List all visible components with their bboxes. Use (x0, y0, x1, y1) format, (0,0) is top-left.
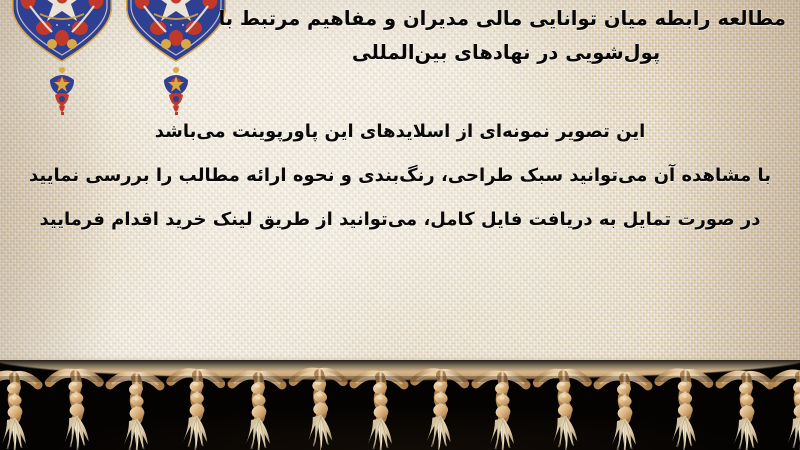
body-line-2: با مشاهده آن می‌توانید سبک طراحی، رنگ‌بن… (0, 154, 800, 198)
fringe-tassels (0, 360, 800, 450)
slide-canvas: مطالعه رابطه میان توانایی مالی مدیران و … (0, 0, 800, 450)
text-layer: مطالعه رابطه میان توانایی مالی مدیران و … (0, 0, 800, 372)
title-line-2: پول‌شویی در نهادهای بین‌المللی (226, 36, 786, 70)
carpet-tassel-fringe (0, 360, 800, 450)
slide-body: این تصویر نمونه‌ای از اسلایدهای این پاور… (0, 110, 800, 242)
body-line-3: در صورت تمایل به دریافت فایل کامل، می‌تو… (0, 198, 800, 242)
body-line-1: این تصویر نمونه‌ای از اسلایدهای این پاور… (0, 110, 800, 154)
title-line-1: مطالعه رابطه میان توانایی مالی مدیران و … (226, 2, 786, 36)
slide-title: مطالعه رابطه میان توانایی مالی مدیران و … (226, 2, 786, 70)
